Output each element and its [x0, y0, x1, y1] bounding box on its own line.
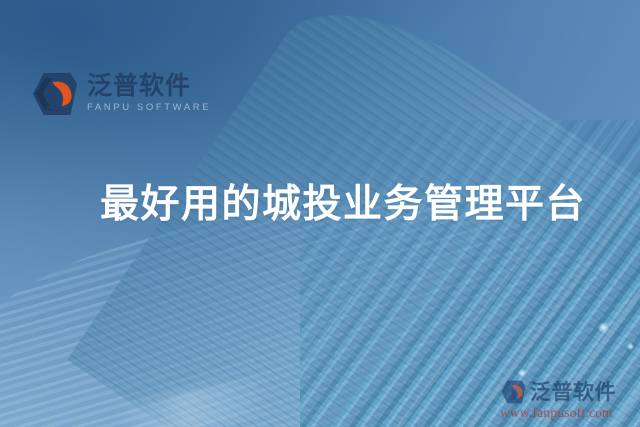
fanpu-hexagon-logo-icon — [500, 379, 526, 405]
glass-specular-highlight — [518, 369, 526, 377]
brand-name-en: FANPU SOFTWARE — [87, 101, 211, 115]
glass-specular-highlight — [627, 343, 634, 350]
watermark-name-cn: 泛普软件 — [530, 382, 616, 403]
promo-banner: 泛普软件 FANPU SOFTWARE 最好用的城投业务管理平台 泛普软件 ww… — [0, 0, 640, 427]
brand-name-cn: 泛普软件 — [87, 72, 211, 99]
watermark-url: www.fanpusoft.com — [500, 406, 636, 421]
cloud-wisp — [117, 375, 272, 427]
brand-logo: 泛普软件 FANPU SOFTWARE — [30, 70, 211, 118]
glass-specular-highlight — [598, 322, 609, 333]
brand-text: 泛普软件 FANPU SOFTWARE — [87, 72, 211, 115]
headline-title: 最好用的城投业务管理平台 — [100, 183, 586, 228]
watermark-logo-row: 泛普软件 — [500, 379, 636, 405]
watermark: 泛普软件 www.fanpusoft.com — [500, 379, 636, 421]
fanpu-hexagon-logo-icon — [30, 70, 78, 118]
